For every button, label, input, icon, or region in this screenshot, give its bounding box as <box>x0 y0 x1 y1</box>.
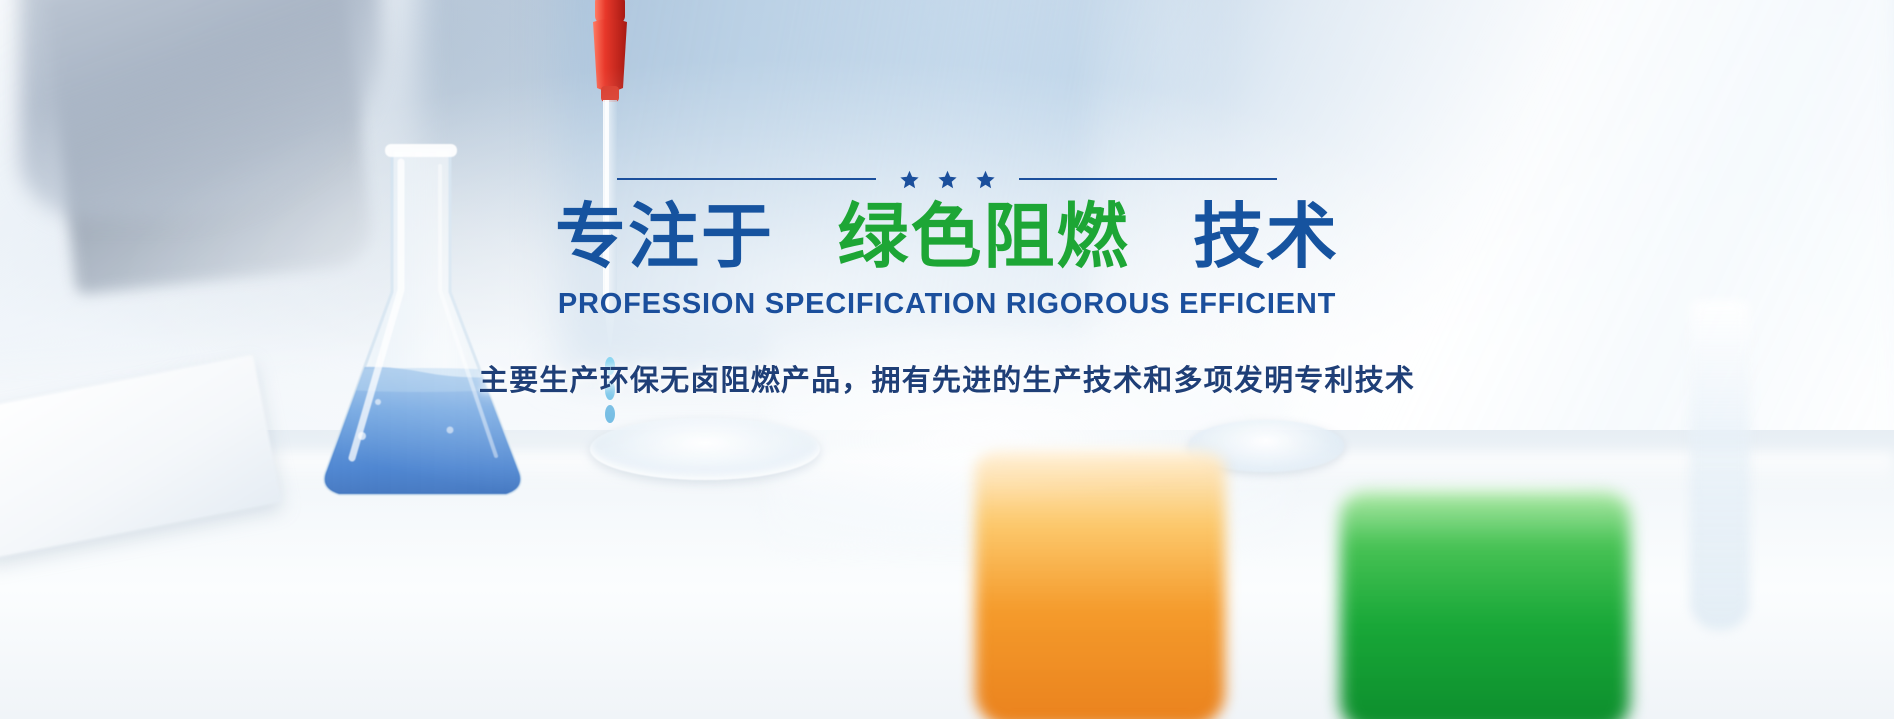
headline-part-primary: 专注于 <box>555 198 774 277</box>
divider-line-left <box>617 178 876 180</box>
banner-content: 专注于 绿色阻燃 技术 PROFESSION SPECIFICATION RIG… <box>0 0 1894 719</box>
star-icon <box>900 170 919 189</box>
divider-line-right <box>1019 178 1278 180</box>
star-icon <box>976 170 995 189</box>
star-icon <box>938 170 957 189</box>
decorative-rule-row <box>617 168 1277 190</box>
headline: 专注于 绿色阻燃 技术 <box>555 202 1339 274</box>
headline-part-secondary: 技术 <box>1193 198 1339 277</box>
subtitle-english: PROFESSION SPECIFICATION RIGOROUS EFFICI… <box>558 288 1336 321</box>
star-group <box>900 170 995 189</box>
headline-part-accent: 绿色阻燃 <box>837 198 1129 277</box>
subtitle-chinese: 主要生产环保无卤阻燃产品，拥有先进的生产技术和多项发明专利技术 <box>479 357 1415 399</box>
hero-banner: 专注于 绿色阻燃 技术 PROFESSION SPECIFICATION RIG… <box>0 0 1894 719</box>
